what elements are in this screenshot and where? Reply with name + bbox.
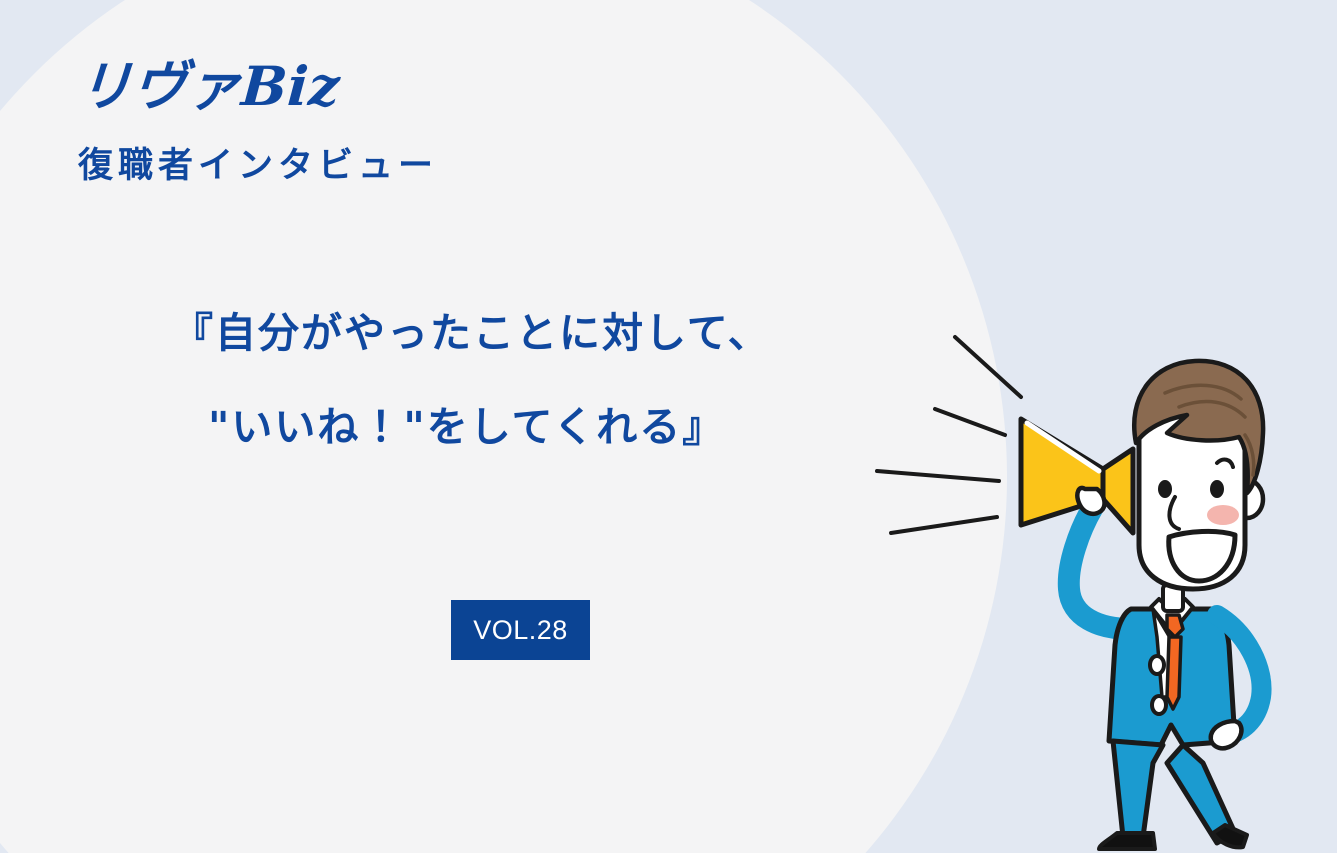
brand-subtitle: 復職者インタビュー <box>78 137 698 188</box>
blush <box>1207 505 1239 525</box>
left-shoe <box>1099 833 1155 849</box>
headline-line-2: "いいね！"をしてくれる』 <box>172 380 932 474</box>
left-eye <box>1158 480 1172 498</box>
hip-arm <box>1217 615 1262 735</box>
hip-hand <box>1211 721 1242 748</box>
brand-block: リヴァBiz 復職者インタビュー <box>78 58 698 188</box>
hair <box>1134 361 1263 493</box>
raised-arm <box>1069 507 1131 629</box>
gripping-hand <box>1077 488 1104 514</box>
ear <box>1231 480 1263 518</box>
brand-logo: リヴァBiz <box>76 58 700 115</box>
head <box>1139 375 1245 589</box>
nose <box>1169 497 1179 529</box>
shirt-collar <box>1151 599 1193 633</box>
interview-banner: リヴァBiz 復職者インタビュー 『自分がやったことに対して、 "いいね！"をし… <box>0 0 1337 853</box>
megaphone-icon <box>1021 419 1133 533</box>
left-leg <box>1113 741 1163 837</box>
eyebrow <box>1217 460 1233 467</box>
necktie-knot <box>1167 615 1183 637</box>
headline-line-1: 『自分がやったことに対して、 <box>172 286 932 380</box>
necktie <box>1167 637 1181 709</box>
jacket-button-bottom <box>1152 696 1166 714</box>
page-title: 『自分がやったことに対して、 "いいね！"をしてくれる』 <box>172 286 932 474</box>
volume-badge-label: VOL.28 <box>473 615 568 646</box>
right-shoe <box>1213 825 1247 847</box>
suit-jacket <box>1109 609 1235 745</box>
mouth <box>1169 531 1235 581</box>
volume-badge: VOL.28 <box>451 600 590 660</box>
right-leg <box>1167 745 1235 843</box>
jacket-button-top <box>1150 656 1164 674</box>
right-eye <box>1210 480 1224 498</box>
neck <box>1163 585 1183 611</box>
